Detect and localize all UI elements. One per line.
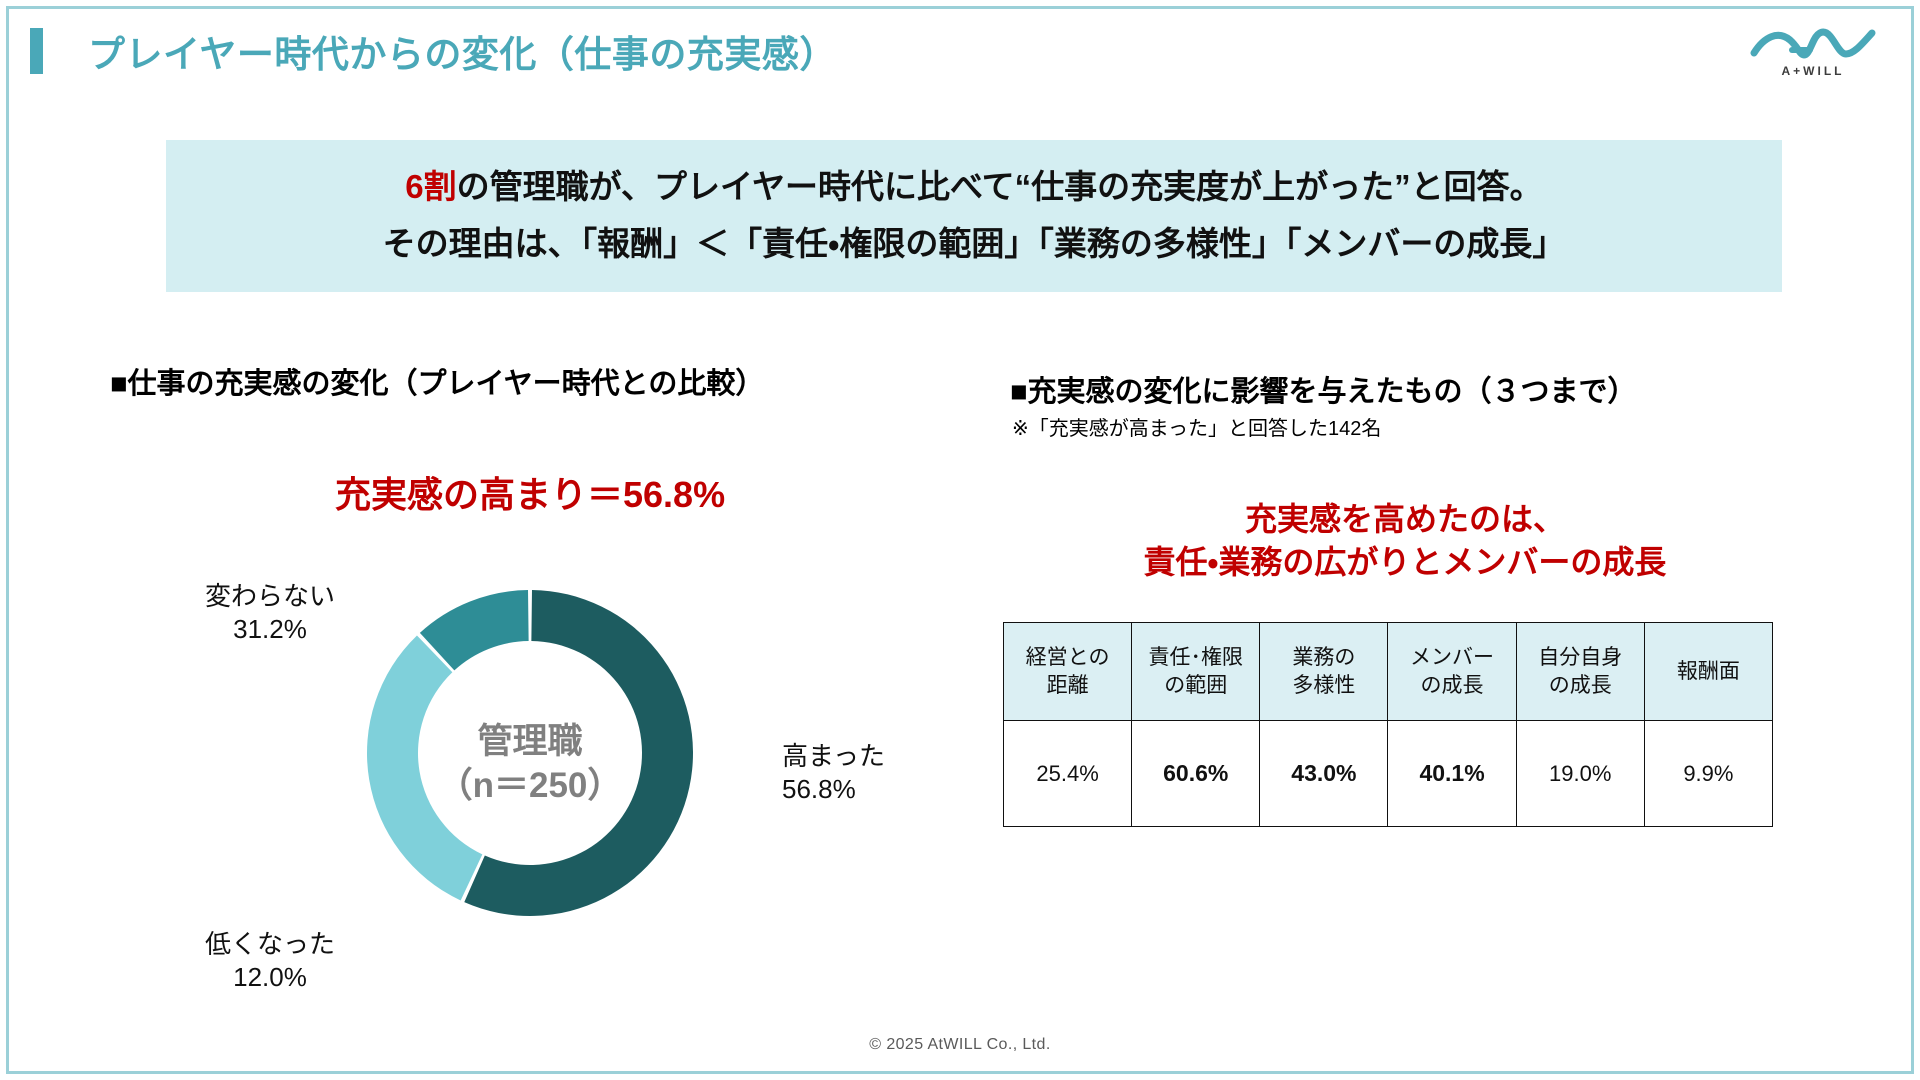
donut-label-unchanged: 変わらない 31.2% [205, 580, 335, 647]
table-header-cell-5: 自分自身の成長 [1516, 623, 1644, 721]
banner-red-number: 6割 [405, 168, 456, 205]
left-red-subheadline: 充実感の高まり＝56.8% [335, 466, 725, 518]
right-red-headline-line-2: 責任・業務の広がりとメンバーの成長 [1010, 541, 1800, 584]
atwill-logo: A+WILL [1748, 22, 1878, 84]
table-header-cell-1: 経営との距離 [1004, 623, 1132, 721]
right-section-heading: ■充実感の変化に影響を与えたもの（３つまで） [1010, 368, 1637, 410]
table-header-text: 距離 [1007, 672, 1128, 699]
slide-border-left [6, 6, 9, 1074]
donut-label-higher: 高まった 56.8% [782, 740, 885, 807]
table-header-text: の成長 [1391, 672, 1512, 699]
donut-label-lower-value: 12.0% [205, 961, 335, 994]
donut-label-lower-name: 低くなった [205, 928, 335, 961]
table-header-row: 経営との距離責任･権限の範囲業務の多様性メンバーの成長自分自身の成長報酬面 [1004, 623, 1773, 721]
left-section-heading: ■仕事の充実感の変化（プレイヤー時代との比較） [110, 360, 764, 402]
donut-center-label-2: （n＝250） [330, 757, 730, 808]
banner-line-1: 6割の管理職が、プレイヤー時代に比べて“仕事の充実度が上がった”と回答。 [405, 170, 1542, 205]
table-header-text: の範囲 [1135, 672, 1256, 699]
donut-label-unchanged-name: 変わらない [205, 580, 335, 613]
donut-label-higher-value: 56.8% [782, 773, 885, 806]
slide-border-top [6, 6, 1914, 9]
donut-chart: 管理職 （n＝250） [330, 545, 730, 960]
key-message-banner: 6割の管理職が、プレイヤー時代に比べて“仕事の充実度が上がった”と回答。 その理… [166, 140, 1782, 292]
table-header-cell-6: 報酬面 [1644, 623, 1772, 721]
banner-line-2: その理由は、「報酬」＜「責任・権限の範囲」「業務の多様性」「メンバーの成長」 [383, 227, 1566, 262]
donut-label-higher-name: 高まった [782, 740, 885, 773]
factor-table: 経営との距離責任･権限の範囲業務の多様性メンバーの成長自分自身の成長報酬面 25… [1003, 622, 1773, 827]
title-accent-bar [30, 28, 43, 74]
slide-canvas: プレイヤー時代からの変化（仕事の充実感） A+WILL 6割の管理職が、プレイヤ… [0, 0, 1920, 1080]
table-value-cell-4: 40.1% [1388, 721, 1516, 827]
banner-line-1-rest: の管理職が、プレイヤー時代に比べて“仕事の充実度が上がった”と回答。 [457, 168, 1543, 205]
donut-label-lower: 低くなった 12.0% [205, 928, 335, 995]
table-header-text: 多様性 [1263, 672, 1384, 699]
copyright-footer: © 2025 AtWILL Co., Ltd. [0, 1036, 1920, 1054]
table-header-text: 自分自身 [1520, 644, 1641, 671]
slide-border-right [1911, 6, 1914, 1074]
table-value-cell-1: 25.4% [1004, 721, 1132, 827]
table-value-cell-3: 43.0% [1260, 721, 1388, 827]
table-header-text: 責任･権限 [1135, 644, 1256, 671]
table-value-cell-2: 60.6% [1132, 721, 1260, 827]
slide-border-bottom [6, 1071, 1914, 1074]
table-value-cell-6: 9.9% [1644, 721, 1772, 827]
table-row: 25.4%60.6%43.0%40.1%19.0%9.9% [1004, 721, 1773, 827]
table-header-text: 報酬面 [1648, 658, 1769, 685]
page-title: プレイヤー時代からの変化（仕事の充実感） [88, 24, 837, 78]
logo-wordmark: A+WILL [1748, 64, 1878, 78]
table-header-cell-2: 責任･権限の範囲 [1132, 623, 1260, 721]
table-header-text: 経営との [1007, 644, 1128, 671]
table-header-text: 業務の [1263, 644, 1384, 671]
right-section-note: ※「充実感が高まった」と回答した142名 [1012, 412, 1381, 441]
donut-label-unchanged-value: 31.2% [205, 613, 335, 646]
table-header-cell-3: 業務の多様性 [1260, 623, 1388, 721]
right-red-headline-line-1: 充実感を高めたのは、 [1010, 498, 1800, 541]
right-red-headline: 充実感を高めたのは、 責任・業務の広がりとメンバーの成長 [1010, 498, 1800, 584]
table-header-text: メンバー [1391, 644, 1512, 671]
logo-squiggle-icon [1748, 22, 1878, 66]
table-value-cell-5: 19.0% [1516, 721, 1644, 827]
table-header-text: の成長 [1520, 672, 1641, 699]
table-header-cell-4: メンバーの成長 [1388, 623, 1516, 721]
